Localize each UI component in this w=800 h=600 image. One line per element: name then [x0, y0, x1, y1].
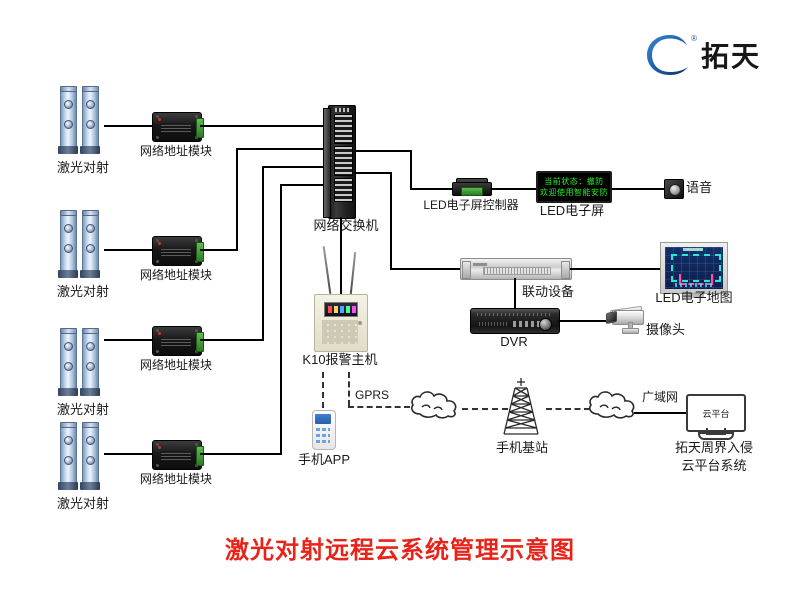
antenna-left-icon	[323, 246, 332, 294]
network-switch-label: 网络交换机	[296, 218, 396, 233]
wire-module1-switch	[200, 125, 328, 127]
wire-ledscreen-voice	[612, 188, 664, 190]
wire-laser2-module2	[104, 249, 152, 251]
antenna-right-icon	[350, 252, 356, 294]
alarm-panel-icon	[314, 294, 368, 352]
wire-laser1-module1	[104, 125, 152, 127]
smartphone-icon	[312, 410, 336, 450]
dash-alarmhost-phone	[322, 372, 324, 408]
tuotian-swirl-logo-icon: ®	[645, 32, 695, 78]
linkage-device-label: 联动设备	[508, 284, 588, 299]
laser-detector-label-3: 激光对射	[38, 402, 128, 417]
base-station-label: 手机基站	[480, 440, 564, 455]
wire-switch-linkage-a	[354, 172, 392, 174]
network-address-module-label-2: 网络地址模块	[131, 268, 221, 282]
bus-to-switch-3	[262, 166, 328, 168]
led-screen-label: LED电子屏	[530, 203, 614, 218]
cloud-platform-label-line2: 云平台系统	[654, 458, 774, 473]
wire-laser4-module4	[104, 453, 152, 455]
wire-switch-ledctl-b	[410, 150, 412, 190]
cloud-platform-screen-text: 云平台	[702, 407, 729, 420]
wire-linkage-ledmap	[570, 268, 660, 270]
led-screen-line2: 欢迎使用智能安防	[540, 187, 608, 198]
wire-laser3-module3	[104, 339, 152, 341]
led-map-label: LED电子地图	[640, 290, 748, 305]
dvr-label: DVR	[492, 334, 536, 349]
network-address-module-3	[152, 326, 202, 356]
led-display-icon: 当前状态：撤防 欢迎使用智能安防	[536, 171, 612, 203]
cell-tower-icon	[498, 376, 544, 443]
laser-detector-pair-2	[58, 212, 104, 278]
laser-detector-label-4: 激光对射	[38, 496, 128, 511]
cloud-platform-label-line1: 拓天周界入侵	[654, 440, 774, 455]
wire-module4-bus	[200, 453, 280, 455]
camera-label: 摄像头	[646, 322, 706, 337]
wire-linkage-dvr	[514, 278, 516, 308]
dash-gprs-riser	[348, 372, 350, 406]
wire-switch-alarmhost	[340, 217, 342, 295]
led-controller-icon	[452, 178, 490, 196]
wire-switch-ledctl-c	[410, 188, 452, 190]
network-address-module-label-3: 网络地址模块	[131, 358, 221, 372]
network-address-module-2	[152, 236, 202, 266]
laser-detector-label-2: 激光对射	[38, 284, 128, 299]
wire-switch-ledctl-a	[354, 150, 410, 152]
laser-detector-pair-4	[58, 424, 104, 490]
network-address-module-label-4: 网络地址模块	[131, 472, 221, 486]
laser-detector-pair-1	[58, 88, 104, 154]
cloud-monitor-icon: 云平台	[686, 394, 742, 438]
dash-tower-cloudright	[546, 408, 590, 410]
brand-name: 拓天	[701, 35, 761, 75]
network-switch-icon	[328, 105, 356, 219]
map-monitor-icon	[660, 242, 728, 294]
cctv-camera-icon	[606, 308, 646, 334]
wire-wan-cloudplatform	[634, 412, 686, 414]
laser-detector-pair-3	[58, 330, 104, 396]
mobile-app-label: 手机APP	[288, 452, 360, 467]
cloud-left-icon	[408, 388, 464, 425]
bus-to-switch-4	[280, 184, 328, 186]
wire-switch-linkage-c	[390, 268, 460, 270]
network-address-module-4	[152, 440, 202, 470]
network-address-module-1	[152, 112, 202, 142]
wire-switch-linkage-b	[390, 172, 392, 270]
bus-riser-4	[280, 184, 282, 455]
wire-dvr-camera	[558, 320, 606, 322]
led-controller-label: LED电子屏控制器	[415, 198, 527, 212]
registered-mark: ®	[691, 34, 697, 43]
gprs-label: GPRS	[355, 388, 399, 402]
wire-module2-bus	[200, 249, 236, 251]
voice-label: 语音	[686, 180, 738, 195]
rack-unit-icon	[460, 258, 572, 280]
alarm-host-label: K10报警主机	[290, 352, 390, 367]
speaker-icon	[664, 179, 684, 199]
brand-logo: ® 拓天	[645, 32, 761, 78]
led-screen-line1: 当前状态：撤防	[544, 176, 604, 187]
bus-riser-3	[262, 166, 264, 341]
network-address-module-label-1: 网络地址模块	[131, 144, 221, 158]
bus-riser-2	[236, 148, 238, 251]
wire-module3-bus	[200, 339, 262, 341]
wan-label: 广域网	[632, 390, 688, 404]
laser-detector-label-1: 激光对射	[38, 160, 128, 175]
bus-to-switch-2	[236, 148, 328, 150]
dvr-icon	[470, 308, 560, 334]
diagram-canvas: ® 拓天 激光对射 网络地址模块 激光对射 网络地址模块 激光对射 网络地址模块	[0, 0, 800, 600]
diagram-title: 激光对射远程云系统管理示意图	[0, 530, 800, 565]
wire-ledctl-ledscreen	[490, 188, 536, 190]
dash-gprs-run	[348, 406, 410, 408]
